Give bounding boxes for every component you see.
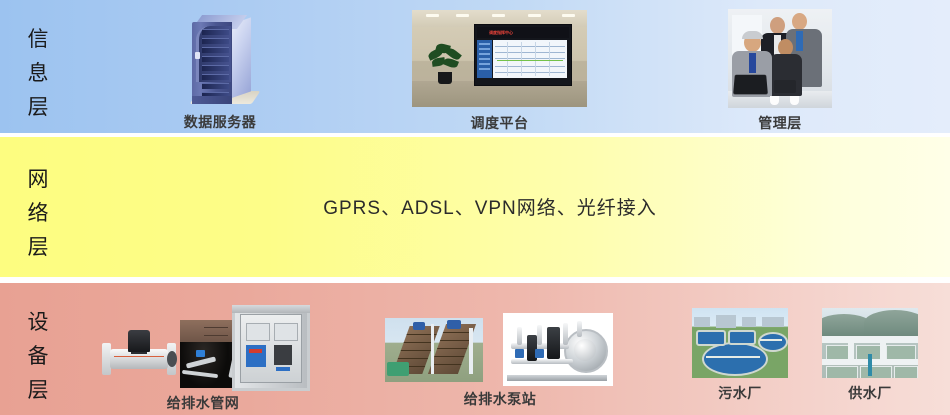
layer-title-information: 信 息 层 [18,22,58,124]
screening-machine-photo [385,318,483,382]
architecture-diagram: 信 息 层 数据服务器 [0,0,950,415]
layer-title-char: 层 [18,373,58,407]
item-pump-station[interactable]: 给排水泵站 [385,309,615,409]
layer-title-char: 息 [18,56,58,90]
network-technologies-text: GPRS、ADSL、VPN网络、光纤接入 [0,193,950,220]
layer-title-char: 信 [18,22,58,56]
layer-title-char: 层 [18,230,58,264]
item-label-wastewater-plant: 污水厂 [692,383,788,403]
item-dispatch-platform[interactable]: 调度指挥中心 [412,10,587,133]
wastewater-plant-photo [692,308,788,378]
layer-information: 信 息 层 数据服务器 [0,0,950,133]
layer-title-char: 层 [18,90,58,124]
control-cabinet-photo [232,305,310,391]
item-label-water-supply-plant: 供水厂 [822,383,918,403]
pump-skid-photo [503,313,613,386]
item-label-pump-station: 给排水泵站 [385,389,615,409]
layer-title-device: 设 备 层 [18,305,58,407]
flow-meter-photo [100,325,178,387]
layer-title-char: 备 [18,339,58,373]
item-data-server[interactable]: 数据服务器 [150,12,290,132]
item-label-pipe-network: 给排水管网 [96,393,310,413]
item-pipe-network[interactable]: 给排水管网 [96,305,310,413]
layer-device: 设 备 层 [0,283,950,415]
control-room-photo: 调度指挥中心 [412,10,587,107]
item-water-supply-plant[interactable]: 供水厂 [822,308,918,403]
layer-network: 网 络 层 GPRS、ADSL、VPN网络、光纤接入 [0,137,950,277]
business-meeting-photo [728,9,832,108]
item-label-dispatch-platform: 调度平台 [412,113,587,133]
water-supply-plant-photo [822,308,918,378]
item-label-data-server: 数据服务器 [150,112,290,132]
item-management[interactable]: 管理层 [728,9,832,133]
item-wastewater-plant[interactable]: 污水厂 [692,308,788,403]
item-label-management: 管理层 [728,113,832,133]
server-tower-icon [180,12,260,108]
layer-title-char: 网 [18,162,58,196]
layer-title-char: 设 [18,305,58,339]
